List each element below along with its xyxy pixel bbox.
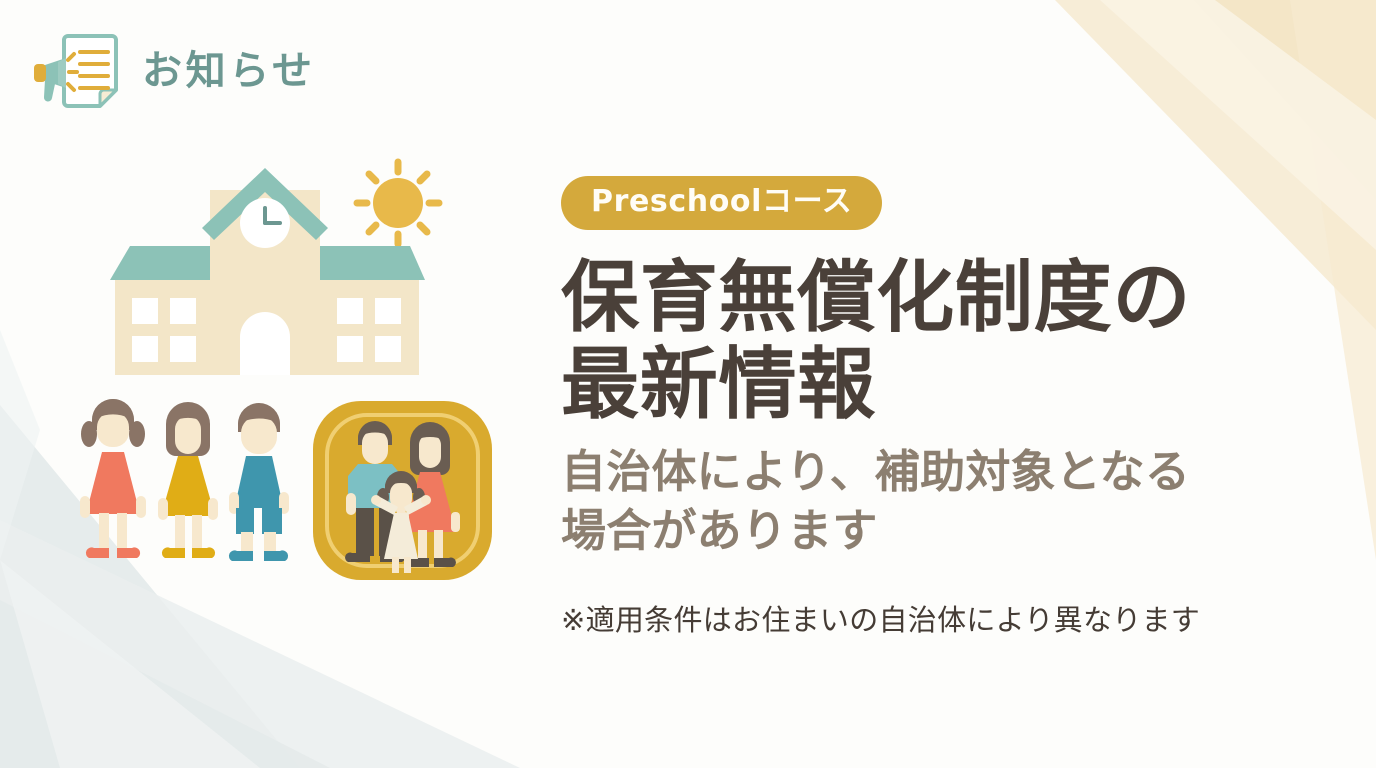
illustration-group (60, 150, 530, 610)
poster-canvas: お知らせ (0, 0, 1376, 768)
content-column: Preschoolコース 保育無償化制度の 最新情報 自治体により、補助対象とな… (561, 176, 1331, 640)
megaphone-document-icon (28, 30, 124, 112)
page-title: 保育無償化制度の 最新情報 (561, 255, 1331, 430)
page-subtitle-line-1: 自治体により、補助対象となる (561, 443, 1331, 502)
announcement-header: お知らせ (28, 30, 316, 112)
child-girl-yellow (158, 402, 218, 558)
page-title-line-1: 保育無償化制度の (561, 255, 1331, 342)
disclaimer-note: ※適用条件はお住まいの自治体により異なります (561, 602, 1331, 640)
announcement-label: お知らせ (142, 51, 316, 91)
child-girl-coral (80, 399, 146, 558)
page-title-line-2: 最新情報 (561, 342, 1331, 429)
family-icon (310, 398, 495, 583)
children-illustration (72, 398, 302, 578)
page-subtitle-line-2: 場合があります (561, 502, 1331, 561)
sun-icon (357, 162, 439, 244)
child-boy-blue (229, 403, 289, 561)
course-badge: Preschoolコース (561, 176, 882, 230)
page-subtitle: 自治体により、補助対象となる 場合があります (561, 443, 1331, 560)
school-building-illustration (110, 150, 460, 400)
